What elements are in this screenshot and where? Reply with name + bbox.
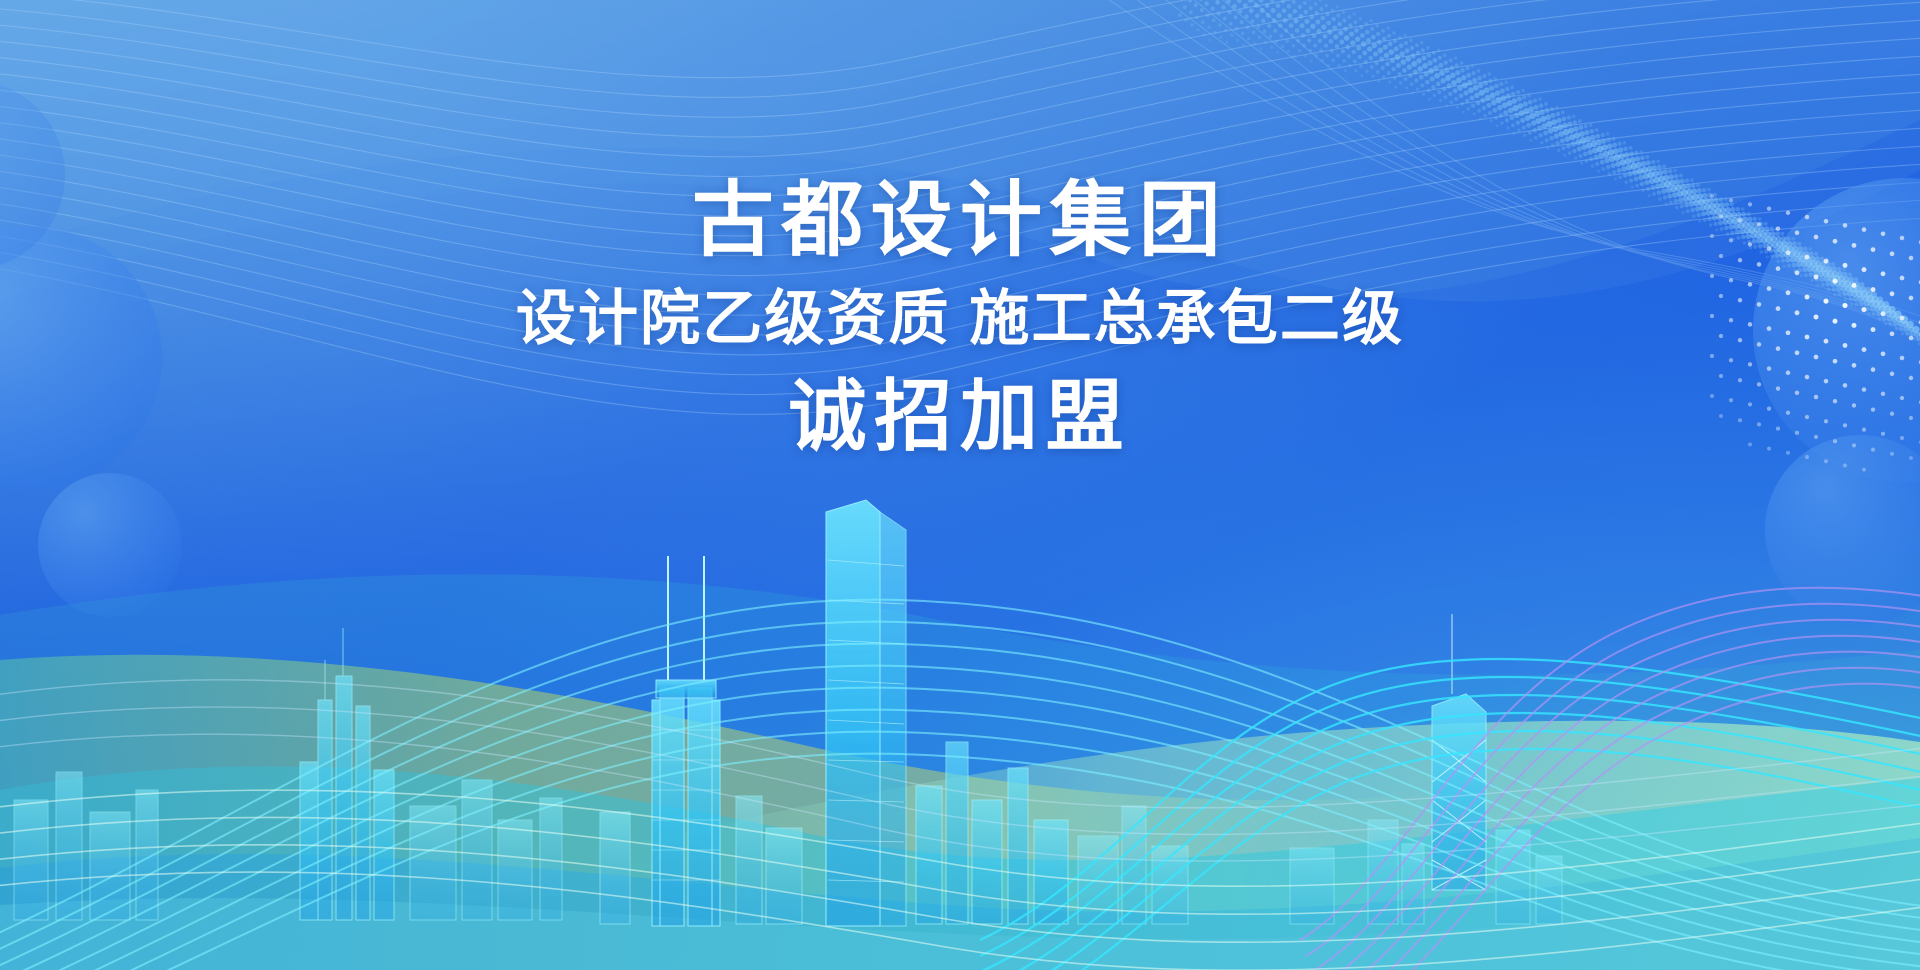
promotional-banner: 古都设计集团 设计院乙级资质 施工总承包二级 诚招加盟: [0, 0, 1920, 970]
bottom-flow-lines: [0, 0, 1920, 970]
